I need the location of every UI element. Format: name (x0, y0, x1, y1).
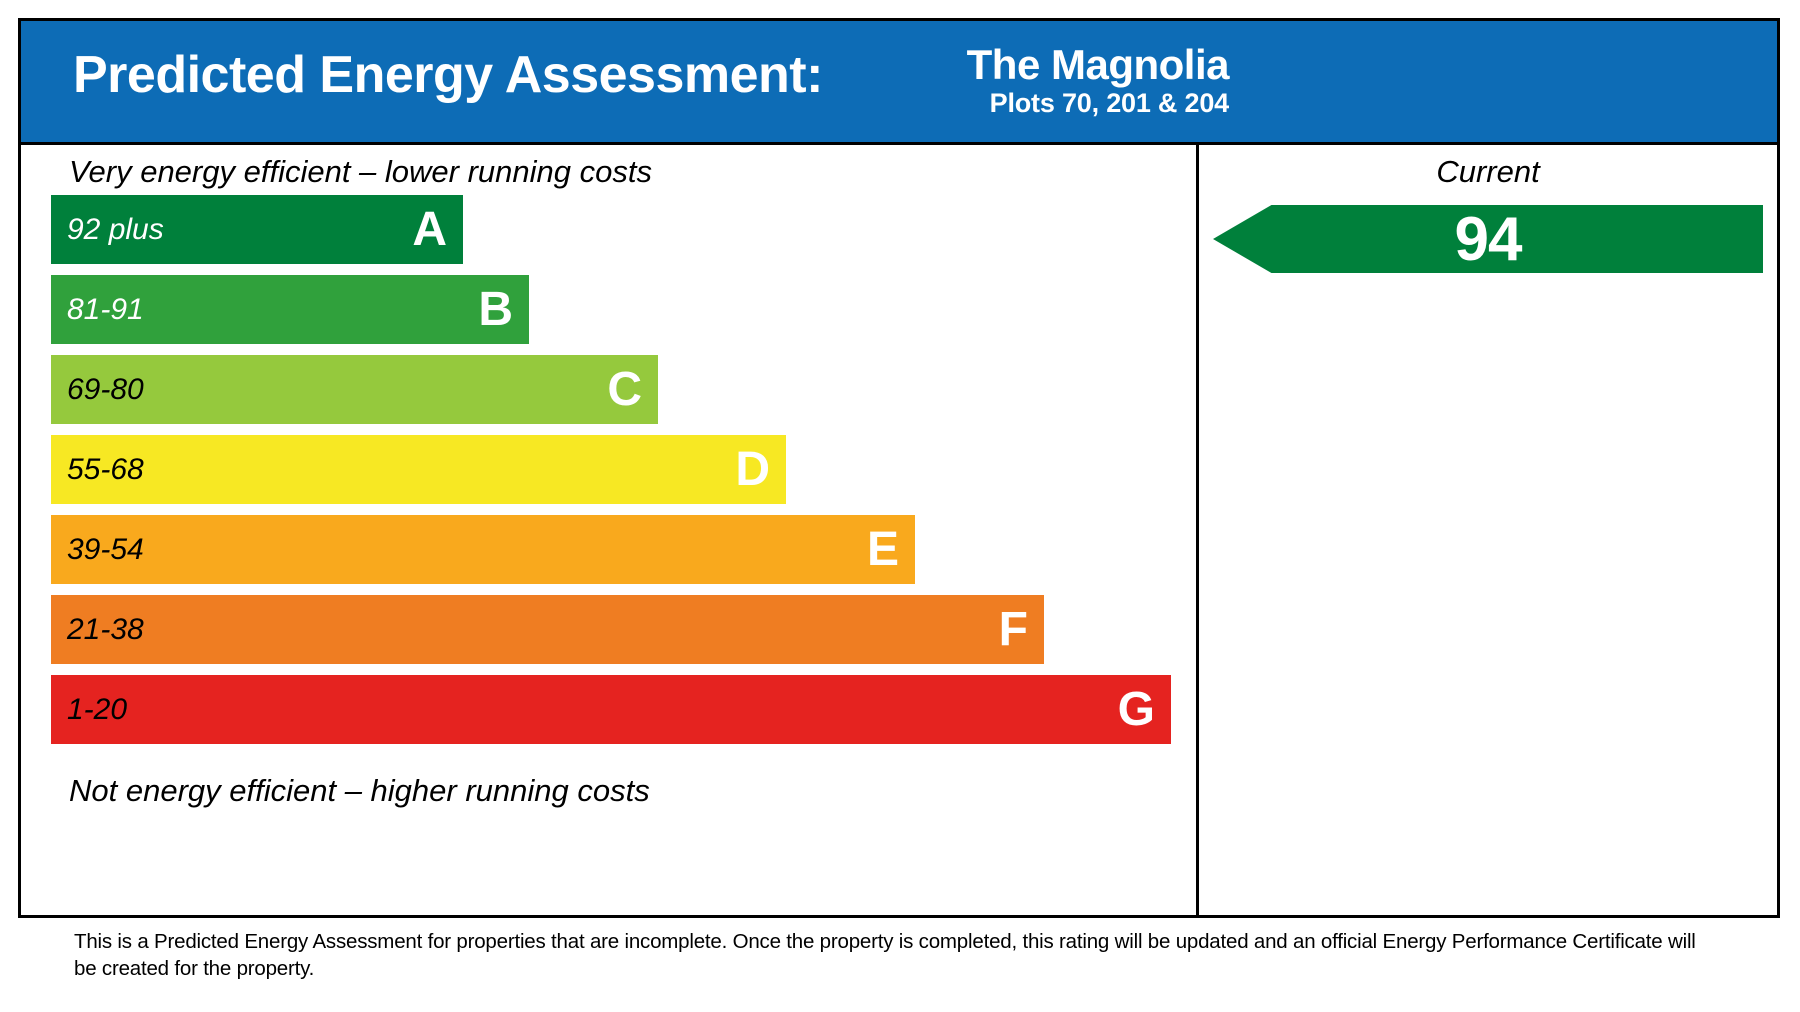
band-letter-d: D (735, 446, 774, 494)
header-banner: Predicted Energy Assessment: The Magnoli… (21, 21, 1777, 145)
efficiency-caption-top: Very energy efficient – lower running co… (69, 154, 652, 190)
chart-body: Very energy efficient – lower running co… (21, 145, 1777, 915)
band-letter-c: C (607, 366, 646, 414)
page-title: Predicted Energy Assessment: (73, 49, 823, 101)
band-letter-e: E (867, 526, 903, 574)
band-range-label-b: 81-91 (67, 295, 144, 325)
band-range-label-a: 92 plus (67, 215, 164, 245)
band-letter-a: A (412, 206, 451, 254)
energy-band-f: 21-38F (51, 595, 1044, 664)
property-identifier: The Magnolia Plots 70, 201 & 204 (967, 43, 1229, 119)
efficiency-caption-bottom: Not energy efficient – higher running co… (69, 773, 650, 809)
band-range-label-f: 21-38 (67, 615, 144, 645)
current-rating-column: Current 94 (1199, 145, 1777, 915)
band-range-label-g: 1-20 (67, 695, 127, 725)
band-letter-f: F (999, 606, 1032, 654)
band-range-label-c: 69-80 (67, 375, 144, 405)
predicted-energy-assessment-chart: Predicted Energy Assessment: The Magnoli… (0, 0, 1800, 1012)
energy-band-b: 81-91B (51, 275, 529, 344)
energy-band-c: 69-80C (51, 355, 658, 424)
band-range-label-d: 55-68 (67, 455, 144, 485)
property-plots: Plots 70, 201 & 204 (967, 89, 1229, 119)
property-name: The Magnolia (967, 43, 1229, 87)
energy-band-d: 55-68D (51, 435, 786, 504)
energy-band-g: 1-20G (51, 675, 1171, 744)
energy-band-a: 92 plusA (51, 195, 463, 264)
band-range-label-e: 39-54 (67, 535, 144, 565)
footer-disclaimer: This is a Predicted Energy Assessment fo… (74, 928, 1714, 982)
band-letter-b: B (478, 286, 517, 334)
band-letter-g: G (1118, 686, 1159, 734)
certificate-frame: Predicted Energy Assessment: The Magnoli… (18, 18, 1780, 918)
energy-band-e: 39-54E (51, 515, 915, 584)
current-column-header: Current (1199, 154, 1777, 190)
current-rating-value: 94 (1213, 199, 1763, 279)
